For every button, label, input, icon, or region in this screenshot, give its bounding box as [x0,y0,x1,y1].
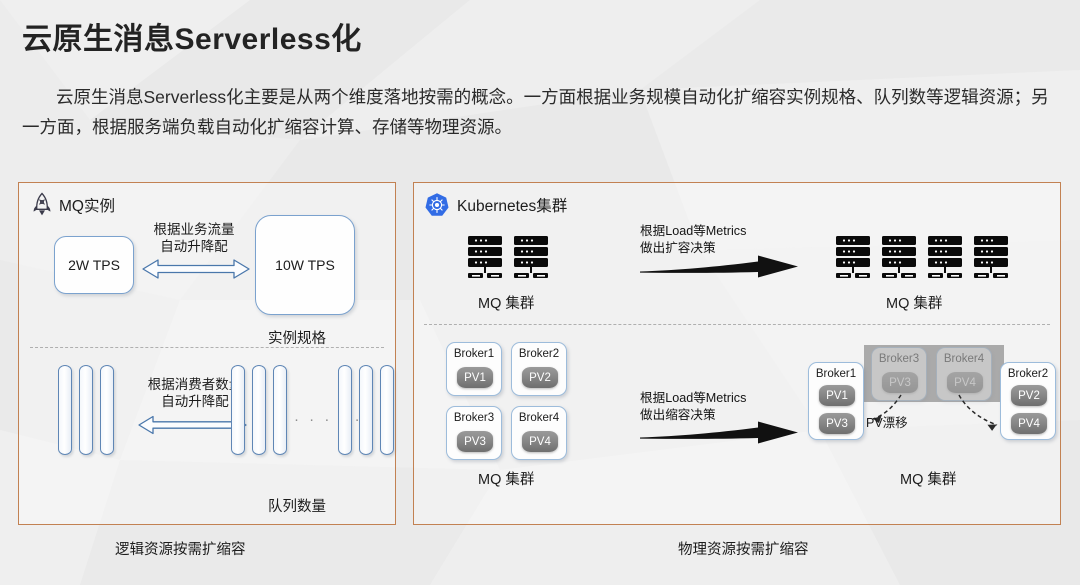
kubernetes-icon [424,192,450,218]
queue-bar [338,365,352,455]
pv-cylinder: PV1 [457,367,493,388]
tps-small-box[interactable]: 2W TPS [54,236,134,294]
broker-card[interactable]: Broker2 PV2 [511,342,567,396]
pv-cylinder-migrated: PV3 [819,413,855,434]
rocket-icon [32,192,52,218]
scale-up-arrow [640,255,800,281]
broker-name: Broker4 [512,412,566,424]
pv-cylinder: PV3 [882,372,918,393]
mq-instance-label: MQ实例 [59,194,115,216]
queue-bar [58,365,72,455]
pv-migration-arrow-right [955,392,1010,432]
kubernetes-cluster-header: Kubernetes集群 [424,192,567,218]
mq-cluster-after-label-bottom: MQ 集群 [900,468,956,489]
broker-card[interactable]: Broker4 PV4 [511,406,567,460]
mq-cluster-before-label-top: MQ 集群 [478,292,534,313]
broker-name: Broker2 [1001,368,1055,380]
kubernetes-label: Kubernetes集群 [457,194,567,216]
scale-down-arrow-label: 根据Load等Metrics 做出缩容决策 [640,390,746,424]
pv-cylinder-migrated: PV4 [1011,413,1047,434]
intro-paragraph: 云原生消息Serverless化主要是从两个维度落地按需的概念。一方面根据业务规… [22,82,1057,142]
queue-bar [231,365,245,455]
broker-name: Broker3 [447,412,501,424]
broker-name: Broker1 [809,368,863,380]
broker-card[interactable]: Broker1 PV1 [446,342,502,396]
tps-large-label: 10W TPS [275,257,335,273]
pv-cylinder: PV2 [1011,385,1047,406]
server-cluster-after [836,236,1010,284]
physical-resource-caption: 物理资源按需扩缩容 [678,538,809,559]
tps-small-label: 2W TPS [68,257,120,273]
scale-down-arrow [640,421,800,447]
logical-resource-caption: 逻辑资源按需扩缩容 [115,538,246,559]
queue-ellipsis: · · · · · [294,411,363,428]
instance-scale-arrow-label: 根据业务流量 自动升降配 [137,221,251,255]
left-panel-separator [30,347,384,348]
mq-instance-header: MQ实例 [32,192,115,218]
instance-spec-label: 实例规格 [268,327,326,348]
pv-cylinder: PV3 [457,431,493,452]
tps-large-box[interactable]: 10W TPS [255,215,355,315]
queue-bar [79,365,93,455]
pv-cylinder: PV2 [522,367,558,388]
server-cluster-before [468,236,550,284]
queue-count-label: 队列数量 [268,495,326,516]
pv-cylinder: PV1 [819,385,855,406]
pv-migration-label: PV漂移 [866,412,908,431]
mq-cluster-after-label-top: MQ 集群 [886,292,942,313]
bidirectional-arrow-instance [142,256,250,282]
queue-bar [273,365,287,455]
broker-name: Broker3 [872,353,926,365]
pv-cylinder: PV4 [947,372,983,393]
scale-up-arrow-label: 根据Load等Metrics 做出扩容决策 [640,223,746,257]
queue-bar [252,365,266,455]
broker-name: Broker4 [937,353,991,365]
queue-bar [380,365,394,455]
page-title: 云原生消息Serverless化 [22,14,362,58]
broker-name: Broker2 [512,348,566,360]
right-panel-separator [424,324,1050,325]
queue-bar [100,365,114,455]
broker-name: Broker1 [447,348,501,360]
queue-bar [359,365,373,455]
broker-card[interactable]: Broker3 PV3 [446,406,502,460]
mq-cluster-before-label-bottom: MQ 集群 [478,468,534,489]
pv-cylinder: PV4 [522,431,558,452]
